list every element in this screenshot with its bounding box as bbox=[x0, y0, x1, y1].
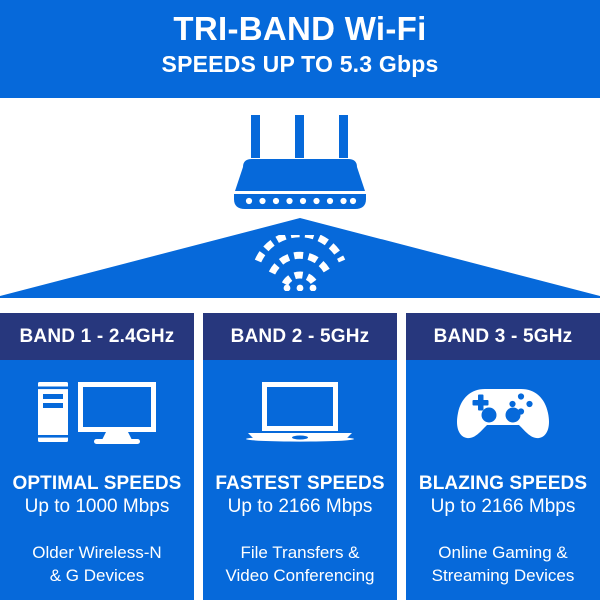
hero-illustration bbox=[0, 98, 600, 298]
band-2-use-block: File Transfers & Video Conferencing bbox=[221, 541, 378, 587]
band-3-speed-value: Up to 2166 Mbps bbox=[419, 495, 587, 519]
band-3-use-line-1: Online Gaming & bbox=[432, 541, 575, 564]
band-1-speed-value: Up to 1000 Mbps bbox=[13, 495, 182, 519]
band-1-speed-title: OPTIMAL SPEEDS bbox=[13, 472, 182, 495]
page-title: TRI-BAND Wi-Fi bbox=[0, 9, 600, 49]
tri-band-wifi-infographic: TRI-BAND Wi-Fi SPEEDS UP TO 5.3 Gbps bbox=[0, 0, 600, 600]
band-2-speed-value: Up to 2166 Mbps bbox=[215, 495, 384, 519]
wifi-signal-icon bbox=[252, 235, 348, 291]
band-2-icon-wrap bbox=[242, 376, 358, 448]
band-3-use-block: Online Gaming & Streaming Devices bbox=[428, 541, 579, 587]
band-1-use-line-1: Older Wireless-N bbox=[32, 541, 161, 564]
band-1-header-label: BAND 1 - 2.4GHz bbox=[19, 326, 174, 348]
band-2-use-line-1: File Transfers & bbox=[225, 541, 374, 564]
band-2-header: BAND 2 - 5GHz bbox=[203, 313, 397, 360]
band-panel-3[interactable]: BAND 3 - 5GHz bbox=[406, 313, 600, 600]
band-panels: BAND 1 - 2.4GHz bbox=[0, 313, 600, 600]
band-2-header-label: BAND 2 - 5GHz bbox=[231, 326, 370, 348]
header-banner: TRI-BAND Wi-Fi SPEEDS UP TO 5.3 Gbps bbox=[0, 0, 600, 98]
band-1-speed-block: OPTIMAL SPEEDS Up to 1000 Mbps bbox=[13, 472, 182, 519]
band-3-icon-wrap bbox=[455, 376, 551, 448]
band-2-use-line-2: Video Conferencing bbox=[225, 564, 374, 587]
page-subtitle: SPEEDS UP TO 5.3 Gbps bbox=[0, 49, 600, 79]
band-1-use-block: Older Wireless-N & G Devices bbox=[28, 541, 165, 587]
wifi-router-icon bbox=[225, 115, 375, 211]
band-3-header-label: BAND 3 - 5GHz bbox=[434, 326, 573, 348]
gamepad-icon bbox=[455, 381, 551, 443]
band-3-header: BAND 3 - 5GHz bbox=[406, 313, 600, 360]
band-panel-2[interactable]: BAND 2 - 5GHz FASTEST SPEEDS Up to 2166 … bbox=[203, 313, 397, 600]
band-2-body: FASTEST SPEEDS Up to 2166 Mbps File Tran… bbox=[203, 360, 397, 600]
band-2-speed-title: FASTEST SPEEDS bbox=[215, 472, 384, 495]
laptop-icon bbox=[242, 380, 358, 444]
band-3-body: BLAZING SPEEDS Up to 2166 Mbps Online Ga… bbox=[406, 360, 600, 600]
band-panel-1[interactable]: BAND 1 - 2.4GHz bbox=[0, 313, 194, 600]
band-3-use-line-2: Streaming Devices bbox=[432, 564, 575, 587]
desktop-computer-icon bbox=[36, 379, 158, 445]
band-3-speed-title: BLAZING SPEEDS bbox=[419, 472, 587, 495]
band-1-use-line-2: & G Devices bbox=[32, 564, 161, 587]
band-1-body: OPTIMAL SPEEDS Up to 1000 Mbps Older Wir… bbox=[0, 360, 194, 600]
band-1-header: BAND 1 - 2.4GHz bbox=[0, 313, 194, 360]
band-3-speed-block: BLAZING SPEEDS Up to 2166 Mbps bbox=[419, 472, 587, 519]
band-1-icon-wrap bbox=[36, 376, 158, 448]
band-2-speed-block: FASTEST SPEEDS Up to 2166 Mbps bbox=[215, 472, 384, 519]
